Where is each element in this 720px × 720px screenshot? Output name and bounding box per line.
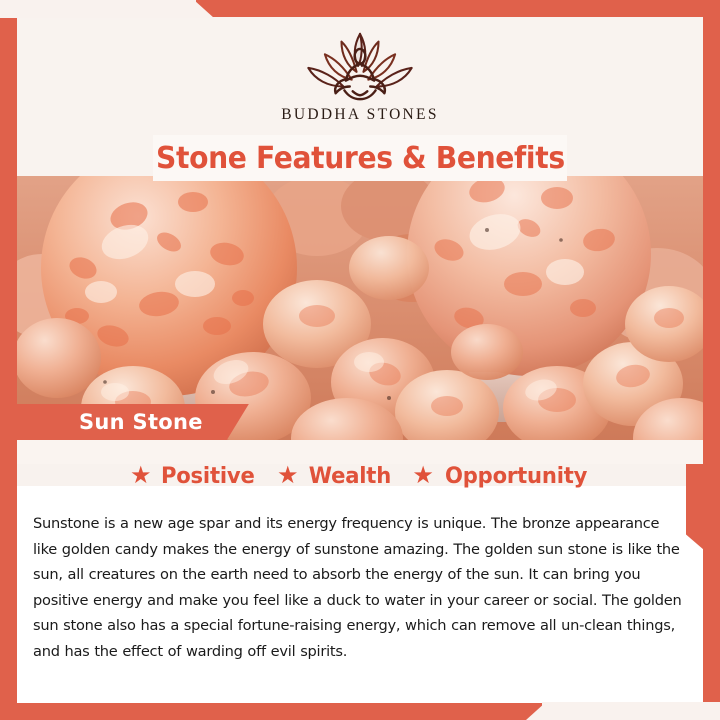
- benefit-label: Opportunity: [445, 464, 587, 489]
- page-title-banner: Stone Features & Benefits: [153, 135, 567, 181]
- product-photo: Sun Stone: [17, 176, 703, 440]
- benefit-item-wealth: ★ Wealth: [277, 464, 392, 489]
- star-icon: ★: [277, 464, 299, 488]
- star-icon: ★: [412, 464, 434, 488]
- top-left-cream-notch: [0, 0, 196, 18]
- description-section: ★ Positive ★ Wealth ★ Opportunity Sunsto…: [17, 464, 703, 703]
- benefit-label: Positive: [161, 464, 255, 489]
- header: BUDDHA STONES Stone Features & Benefits: [17, 17, 703, 176]
- bottom-right-cream-notch: [542, 702, 720, 720]
- lotus-meditation-icon: [285, 27, 435, 105]
- benefit-item-positive: ★ Positive: [130, 464, 257, 489]
- benefits-list: ★ Positive ★ Wealth ★ Opportunity: [17, 464, 703, 489]
- stone-name: Sun Stone: [79, 410, 203, 434]
- sunstone-photo-illustration: [17, 176, 703, 440]
- top-left-diagonal-notch: [194, 0, 214, 18]
- brand-name: BUDDHA STONES: [281, 106, 439, 124]
- brand-logo: BUDDHA STONES: [17, 27, 703, 124]
- star-icon: ★: [130, 464, 152, 488]
- poster-root: BUDDHA STONES Stone Features & Benefits: [0, 0, 720, 720]
- stone-name-banner: Sun Stone: [17, 404, 249, 440]
- benefit-label: Wealth: [308, 464, 390, 489]
- description-text: Sunstone is a new age spar and its energ…: [33, 511, 687, 664]
- bottom-right-diagonal-notch: [526, 702, 546, 720]
- right-accent-tab: [686, 464, 703, 550]
- content-card: BUDDHA STONES Stone Features & Benefits: [17, 17, 703, 703]
- page-title: Stone Features & Benefits: [156, 141, 565, 176]
- benefit-item-opportunity: ★ Opportunity: [412, 464, 590, 489]
